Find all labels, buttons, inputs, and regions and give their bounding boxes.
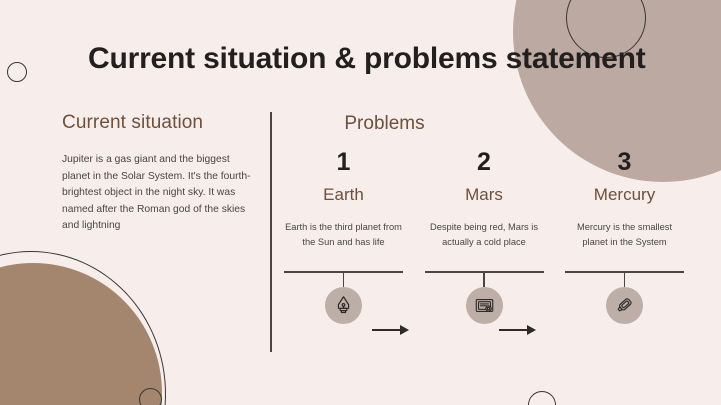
problem-label: Earth — [323, 186, 364, 203]
pen-nib-icon — [325, 287, 362, 324]
problem-column-2: 2 Mars Despite being red, Mars is actual… — [425, 150, 544, 324]
problem-number: 3 — [618, 150, 632, 175]
column-divider — [270, 112, 272, 352]
current-situation-body: Jupiter is a gas giant and the biggest p… — [62, 152, 258, 235]
arrow-shaft — [499, 329, 529, 331]
problems-heading-wrapper: Problems — [0, 113, 721, 135]
problems-columns: 1 Earth Earth is the third planet from t… — [284, 150, 684, 324]
decorative-circle-outline-bottom-center — [528, 391, 556, 405]
problem-stem — [343, 273, 345, 287]
problem-label: Mercury — [594, 186, 655, 203]
arrow-shaft — [372, 329, 402, 331]
page-title: Current situation & problems statement — [88, 42, 645, 76]
arrow-right-icon — [372, 325, 412, 335]
problem-stem — [624, 273, 626, 287]
highlighter-marker-icon — [606, 287, 643, 324]
problem-stem — [483, 273, 485, 287]
problem-description: Earth is the third planet from the Sun a… — [284, 220, 403, 264]
problem-column-3: 3 Mercury Mercury is the smallest planet… — [565, 150, 684, 324]
problem-label: Mars — [465, 186, 503, 203]
problem-description: Despite being red, Mars is actually a co… — [425, 220, 544, 264]
decorative-blob-bottom-left — [0, 263, 162, 405]
arrow-head — [400, 325, 409, 335]
problem-column-1: 1 Earth Earth is the third planet from t… — [284, 150, 403, 324]
problem-number: 2 — [477, 150, 491, 175]
decorative-circle-outline-left — [7, 62, 27, 82]
decorative-circle-outline-bottom-left — [139, 388, 162, 405]
problems-heading: Problems — [344, 113, 424, 135]
decorative-arc-bottom-left — [0, 251, 166, 405]
arrow-head — [527, 325, 536, 335]
certificate-seal-icon — [466, 287, 503, 324]
problem-description: Mercury is the smallest planet in the Sy… — [565, 220, 684, 264]
slide-canvas: Current situation & problems statement C… — [0, 0, 721, 405]
problem-number: 1 — [337, 150, 351, 175]
arrow-right-icon — [499, 325, 539, 335]
